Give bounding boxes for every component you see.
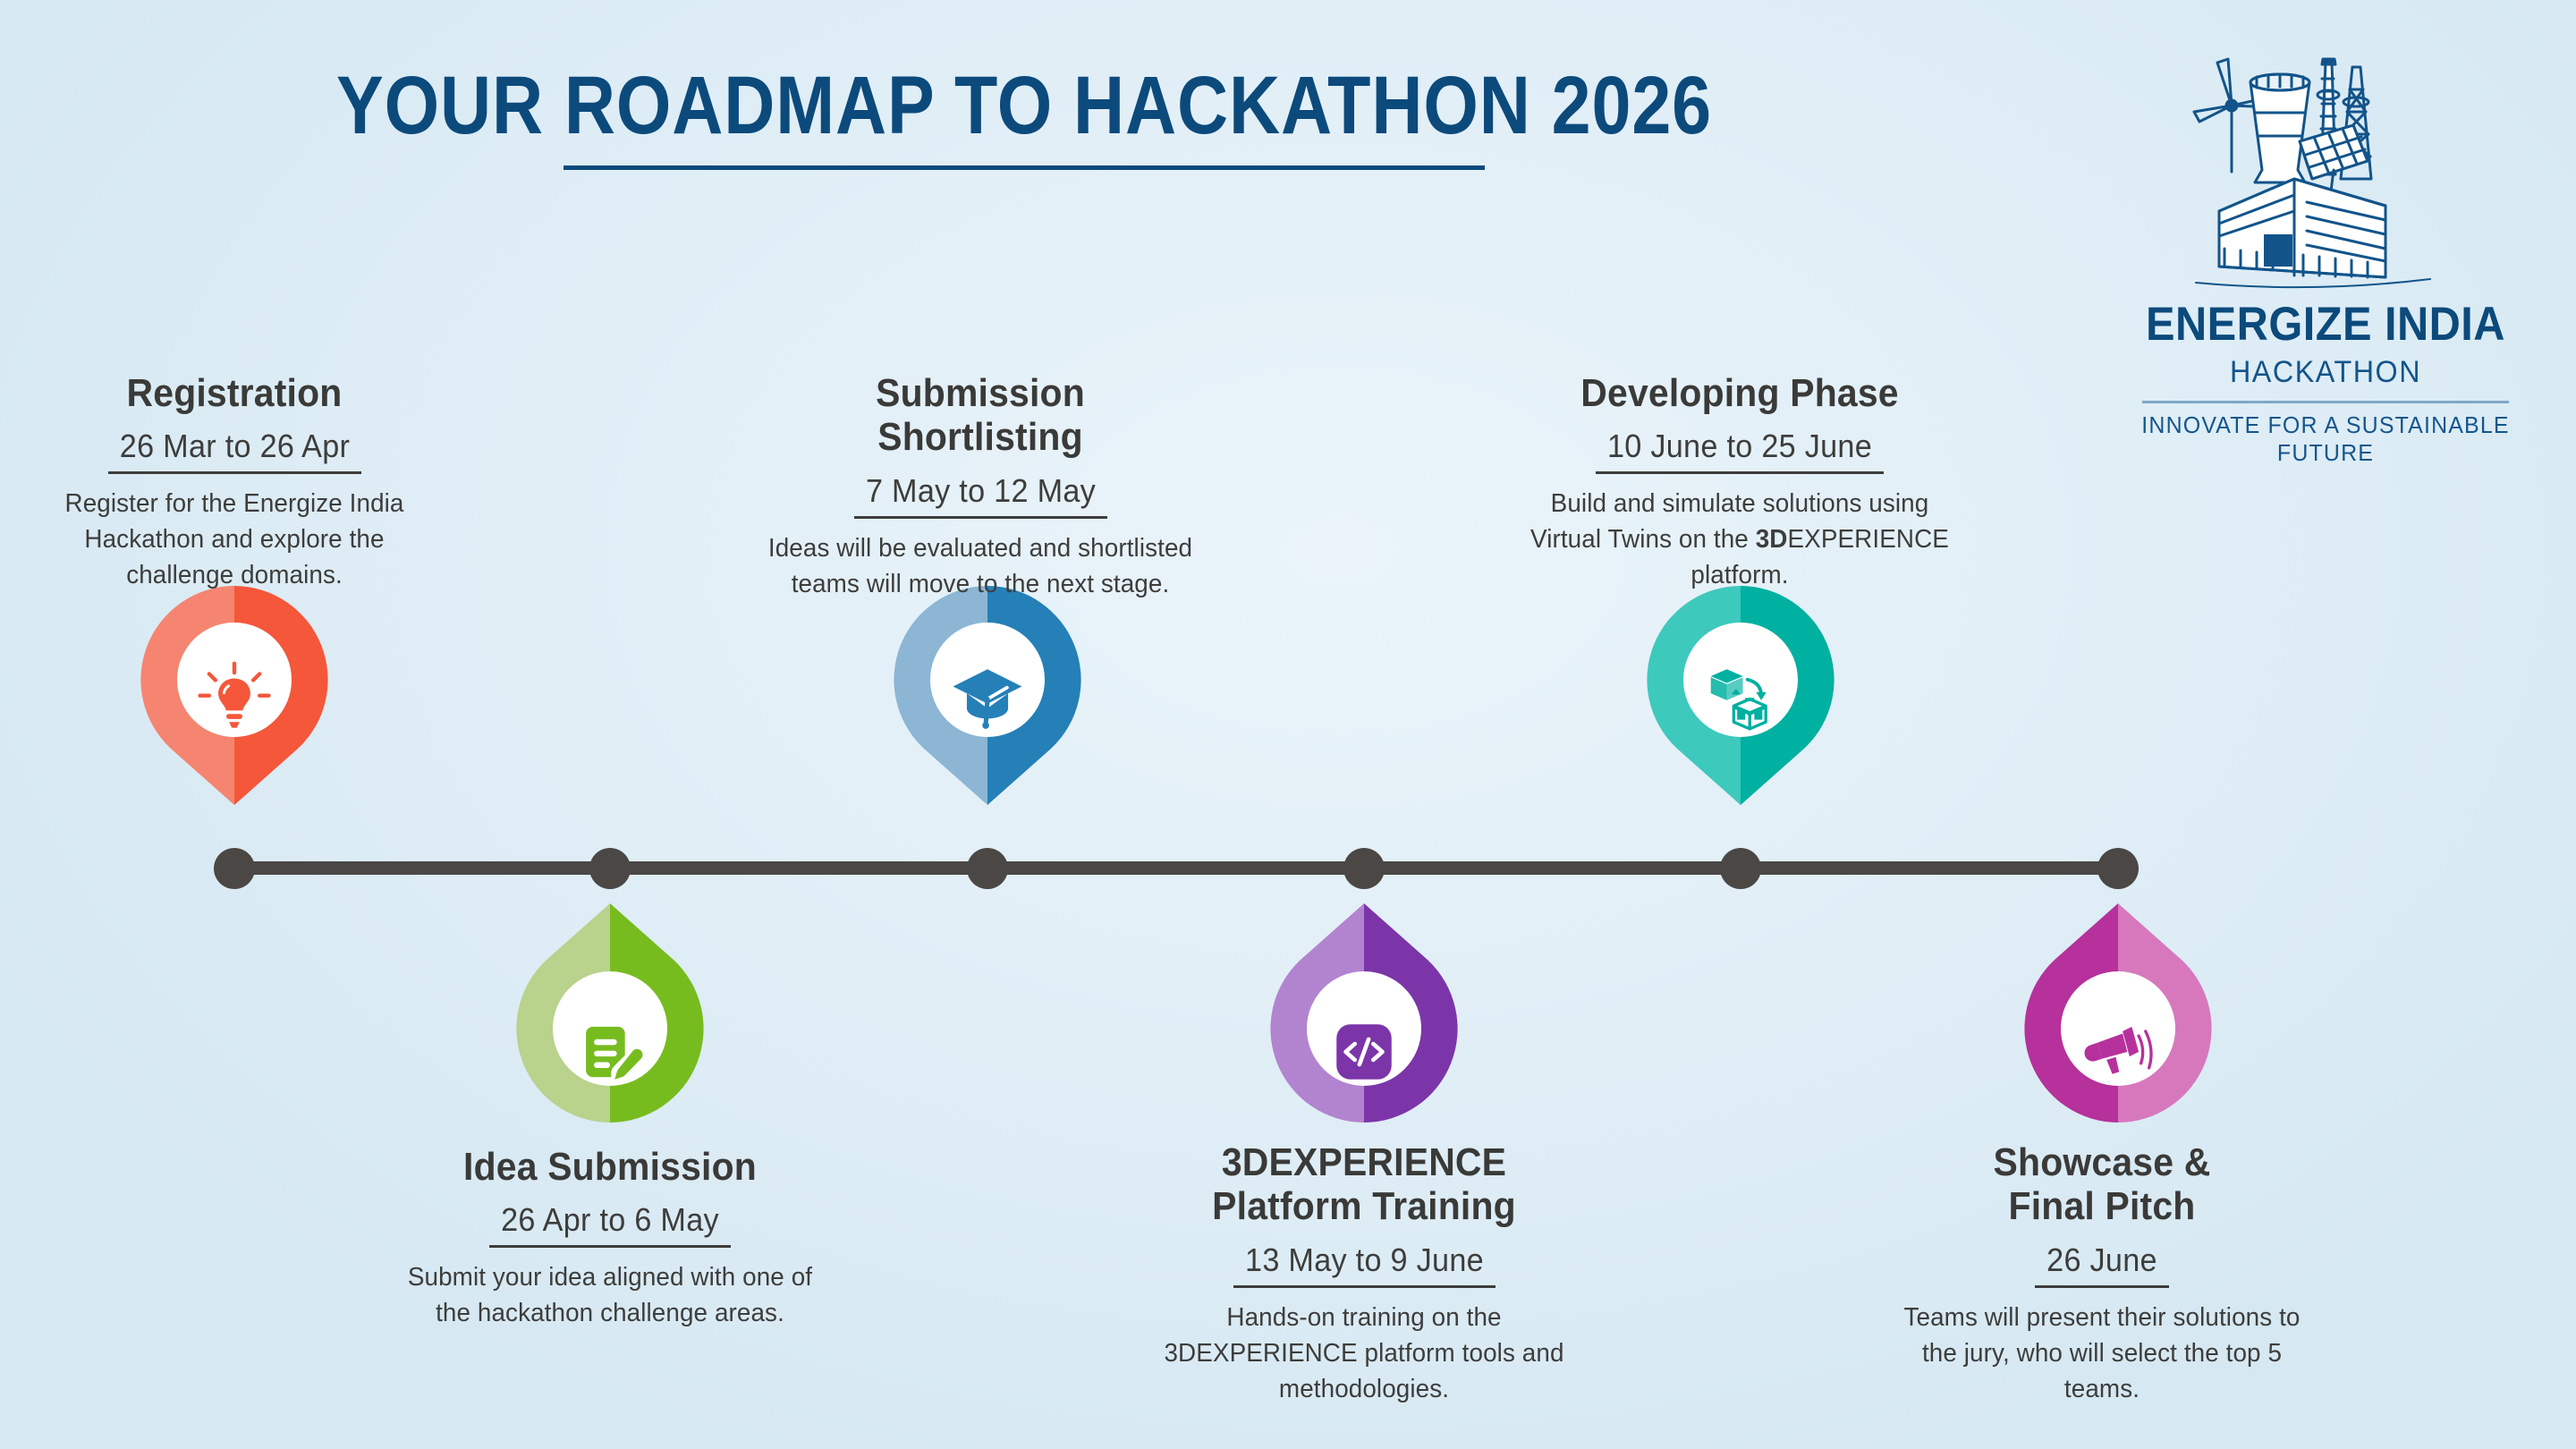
milestone-description: Teams will present their solutions to th… bbox=[1887, 1300, 2317, 1407]
lightbulb-icon bbox=[191, 654, 277, 740]
milestone-pin-submission-shortlisting[interactable] bbox=[894, 586, 1081, 805]
milestone-title-line1: Showcase & bbox=[1894, 1140, 2310, 1184]
digital-twin-cube-icon bbox=[1698, 654, 1784, 740]
logo-tagline: INNOVATE FOR A SUSTAINABLE FUTURE bbox=[2132, 411, 2519, 467]
milestone-date: 26 Mar to 26 Apr bbox=[114, 428, 355, 465]
graduation-cap-icon bbox=[945, 654, 1030, 740]
milestone-description: Register for the Energize India Hackatho… bbox=[46, 486, 423, 593]
milestone-date-underline bbox=[1233, 1285, 1496, 1288]
milestone-date-underline bbox=[108, 471, 361, 474]
milestone-date-underline bbox=[854, 516, 1107, 519]
milestone-pin-registration[interactable] bbox=[140, 586, 328, 805]
milestone-description: Ideas will be evaluated and shortlisted … bbox=[766, 530, 1195, 602]
milestone-title-line2: Final Pitch bbox=[1894, 1184, 2310, 1228]
milestone-text-submission-shortlisting: Submission Shortlisting 7 May to 12 May … bbox=[757, 371, 1204, 602]
milestone-pin-showcase-final-pitch[interactable] bbox=[2024, 903, 2212, 1123]
milestone-title: Registration bbox=[51, 371, 417, 415]
brand-logo: ENERGIZE INDIA HACKATHON INNOVATE FOR A … bbox=[2124, 36, 2527, 467]
code-brackets-icon bbox=[1321, 1009, 1407, 1095]
milestone-text-developing-phase: Developing Phase 10 June to 25 June Buil… bbox=[1507, 371, 1972, 593]
milestone-date-underline bbox=[2035, 1285, 2169, 1288]
milestone-date-group: 26 Mar to 26 Apr bbox=[108, 428, 361, 474]
milestone-date-underline bbox=[1596, 471, 1884, 474]
milestone-date-group: 10 June to 25 June bbox=[1596, 428, 1884, 474]
title-underline bbox=[563, 165, 1485, 170]
megaphone-icon bbox=[2075, 1009, 2161, 1095]
milestone-text-3dexperience-training: 3DEXPERIENCE Platform Training 13 May to… bbox=[1131, 1140, 1597, 1407]
logo-title: ENERGIZE INDIA bbox=[2140, 297, 2511, 352]
milestone-title: Idea Submission bbox=[411, 1145, 809, 1189]
timeline-node-4 bbox=[1343, 848, 1385, 889]
power-plant-logo-icon bbox=[2178, 36, 2473, 295]
milestone-date: 26 Apr to 6 May bbox=[496, 1201, 725, 1239]
milestone-description: Build and simulate solutions using Virtu… bbox=[1516, 486, 1962, 593]
page-title-block: YOUR ROADMAP TO HACKATHON 2026 bbox=[0, 63, 2048, 170]
milestone-text-idea-submission: Idea Submission 26 Apr to 6 May Submit y… bbox=[395, 1145, 825, 1331]
milestone-pin-idea-submission[interactable] bbox=[516, 903, 704, 1123]
document-edit-icon bbox=[567, 1009, 653, 1095]
milestone-date: 26 June bbox=[2038, 1241, 2166, 1279]
timeline-bar bbox=[234, 861, 2120, 875]
milestone-title-line1: 3DEXPERIENCE bbox=[1148, 1140, 1580, 1184]
timeline-node-5 bbox=[1720, 848, 1761, 889]
milestone-pin-developing-phase[interactable] bbox=[1647, 586, 1835, 805]
timeline-node-6 bbox=[2097, 848, 2139, 889]
milestone-text-registration: Registration 26 Mar to 26 Apr Register f… bbox=[38, 371, 431, 593]
milestone-date: 7 May to 12 May bbox=[860, 472, 1101, 510]
logo-divider bbox=[2142, 401, 2509, 403]
milestone-date: 10 June to 25 June bbox=[1603, 428, 1877, 465]
milestone-date-group: 13 May to 9 June bbox=[1233, 1241, 1496, 1288]
page-title: YOUR ROADMAP TO HACKATHON 2026 bbox=[143, 63, 1904, 149]
milestone-text-showcase-final-pitch: Showcase & Final Pitch 26 June Teams wil… bbox=[1878, 1140, 2326, 1407]
milestone-date: 13 May to 9 June bbox=[1240, 1241, 1488, 1279]
logo-subtitle: HACKATHON bbox=[2134, 355, 2517, 390]
timeline-node-1 bbox=[214, 848, 255, 889]
milestone-date-group: 7 May to 12 May bbox=[854, 472, 1107, 519]
milestone-pin-3dexperience-training[interactable] bbox=[1270, 903, 1458, 1123]
roadmap-infographic: YOUR ROADMAP TO HACKATHON 2026 bbox=[0, 0, 2576, 1449]
desc-part-bold: 3D bbox=[1756, 525, 1788, 554]
milestone-title: Submission Shortlisting bbox=[773, 371, 1189, 460]
timeline-node-2 bbox=[589, 848, 631, 889]
milestone-title: Developing Phase bbox=[1523, 371, 1956, 415]
milestone-description: Hands-on training on the 3DEXPERIENCE pl… bbox=[1140, 1300, 1587, 1407]
milestone-date-underline bbox=[489, 1245, 731, 1248]
milestone-description: Submit your idea aligned with one of the… bbox=[404, 1259, 817, 1331]
milestone-title-line2: Platform Training bbox=[1148, 1184, 1580, 1228]
milestone-date-group: 26 Apr to 6 May bbox=[489, 1201, 731, 1248]
timeline-node-3 bbox=[967, 848, 1008, 889]
milestone-date-group: 26 June bbox=[2035, 1241, 2169, 1288]
